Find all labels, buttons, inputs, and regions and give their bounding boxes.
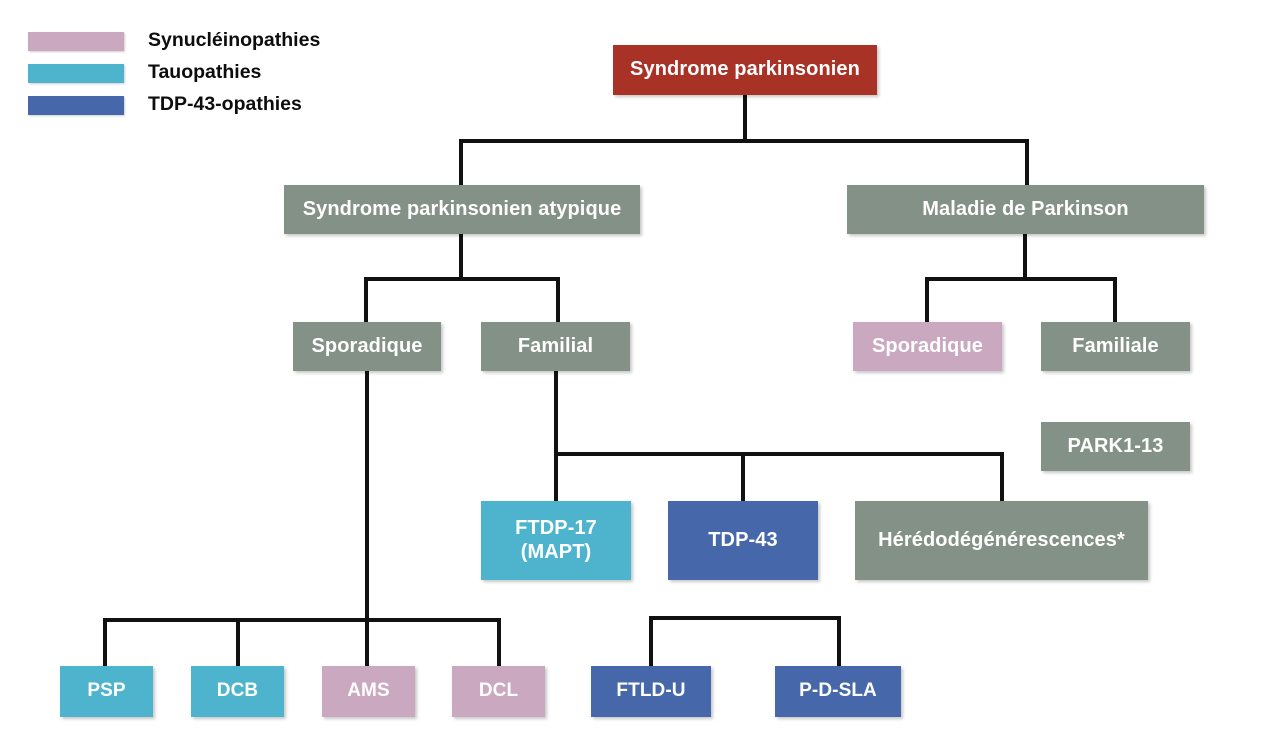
node-label-line2: (MAPT): [521, 541, 592, 565]
connector-to-dcb: [236, 618, 240, 668]
connector-parkinson-children-bar: [925, 277, 1115, 281]
connector-to-ftdp17: [554, 452, 558, 502]
node-label: Sporadique: [872, 335, 983, 359]
connector-to-ftldu: [649, 616, 653, 668]
connector-atypique-sporadique-down: [365, 371, 369, 668]
connector-to-pdsla: [837, 616, 841, 668]
node-dcb[interactable]: DCB: [191, 666, 284, 717]
node-atypique-familial[interactable]: Familial: [481, 322, 630, 371]
connector-to-pd-familiale: [1113, 277, 1117, 323]
node-syndrome-parkinsonien[interactable]: Syndrome parkinsonien: [613, 45, 877, 95]
node-syndrome-parkinsonien-atypique[interactable]: Syndrome parkinsonien atypique: [284, 185, 640, 234]
node-label: TDP-43: [708, 529, 778, 553]
connector-familial-children-bar: [554, 452, 1004, 456]
connector-to-parkinson: [1025, 139, 1029, 186]
connector-root-down: [743, 95, 747, 143]
connector-to-dcl: [497, 618, 501, 668]
node-label-line1: FTDP-17: [515, 517, 597, 541]
legend-label-synucleinopathies: Synucléinopathies: [148, 31, 320, 51]
connector-bottom-left-bar: [103, 618, 501, 622]
node-label: P-D-SLA: [799, 680, 877, 702]
connector-to-pd-sporadique: [925, 277, 929, 323]
connector-to-atypique-familial: [556, 277, 560, 323]
connector-parkinson-down: [1023, 234, 1027, 281]
node-label: Syndrome parkinsonien: [630, 58, 860, 82]
legend-swatch-synucleinopathies: [28, 32, 124, 51]
node-maladie-de-parkinson[interactable]: Maladie de Parkinson: [847, 185, 1204, 234]
node-label: Maladie de Parkinson: [922, 198, 1129, 222]
legend-item-synucleinopathies: Synucléinopathies: [28, 26, 368, 56]
legend-label-tdp43opathies: TDP-43-opathies: [148, 95, 302, 115]
node-label: Sporadique: [311, 335, 422, 359]
legend-item-tdp43opathies: TDP-43-opathies: [28, 90, 368, 120]
node-ams[interactable]: AMS: [322, 666, 415, 717]
node-label: PARK1-13: [1067, 435, 1163, 459]
connector-level1-bar: [459, 139, 1029, 143]
node-label: DCL: [479, 680, 518, 702]
connector-bottom-right-bar: [649, 616, 841, 620]
connector-atypique-children-bar: [364, 277, 560, 281]
node-parkinson-familiale[interactable]: Familiale: [1041, 322, 1190, 371]
node-label: Familiale: [1072, 335, 1159, 359]
connector-to-atypique-sporadique: [364, 277, 368, 323]
node-label: Familial: [518, 335, 593, 359]
connector-to-heredo: [1000, 452, 1004, 502]
connector-familial-down: [554, 371, 558, 456]
connector-to-tdp43: [741, 452, 745, 502]
legend: Synucléinopathies Tauopathies TDP-43-opa…: [28, 26, 368, 122]
node-heredodegenerescences[interactable]: Hérédodégénérescences*: [855, 501, 1148, 580]
node-label: PSP: [87, 680, 125, 702]
node-p-d-sla[interactable]: P-D-SLA: [775, 666, 901, 717]
node-label: DCB: [217, 680, 258, 702]
node-label: AMS: [347, 680, 390, 702]
node-label: Hérédodégénérescences*: [878, 529, 1125, 553]
node-dcl[interactable]: DCL: [452, 666, 545, 717]
legend-label-tauopathies: Tauopathies: [148, 63, 261, 83]
connector-to-psp: [103, 618, 107, 668]
node-psp[interactable]: PSP: [60, 666, 153, 717]
legend-swatch-tauopathies: [28, 64, 124, 83]
node-park1-13[interactable]: PARK1-13: [1041, 422, 1190, 471]
node-parkinson-sporadique[interactable]: Sporadique: [853, 322, 1002, 371]
node-ftld-u[interactable]: FTLD-U: [591, 666, 711, 717]
node-label: Syndrome parkinsonien atypique: [303, 198, 622, 222]
node-atypique-sporadique[interactable]: Sporadique: [293, 322, 441, 371]
connector-atypique-down: [459, 234, 463, 281]
node-tdp-43[interactable]: TDP-43: [668, 501, 818, 580]
legend-item-tauopathies: Tauopathies: [28, 58, 368, 88]
legend-swatch-tdp43opathies: [28, 96, 124, 115]
diagram-canvas: Synucléinopathies Tauopathies TDP-43-opa…: [0, 0, 1280, 746]
node-ftdp-17-mapt[interactable]: FTDP-17 (MAPT): [481, 501, 631, 580]
connector-to-atypique: [459, 139, 463, 186]
node-label: FTLD-U: [616, 680, 685, 702]
